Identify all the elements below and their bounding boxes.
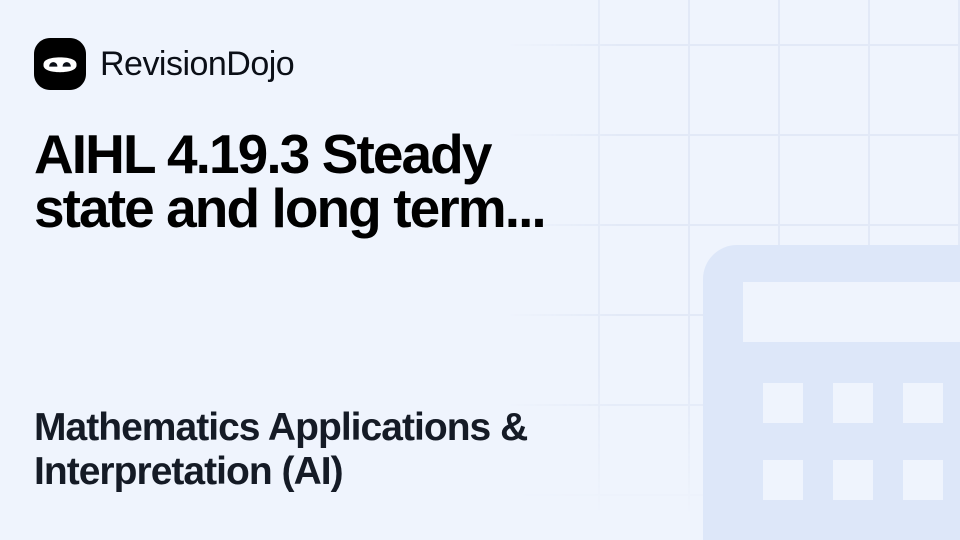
page-title: AIHL 4.19.3 Steady state and long term..… bbox=[34, 128, 614, 236]
brand-name: RevisionDojo bbox=[100, 47, 294, 81]
brand-lockup: RevisionDojo bbox=[34, 38, 926, 90]
card-content: RevisionDojo AIHL 4.19.3 Steady state an… bbox=[0, 0, 960, 540]
ninja-face-icon bbox=[34, 38, 86, 90]
subject-label: Mathematics Applications & Interpretatio… bbox=[34, 406, 694, 493]
